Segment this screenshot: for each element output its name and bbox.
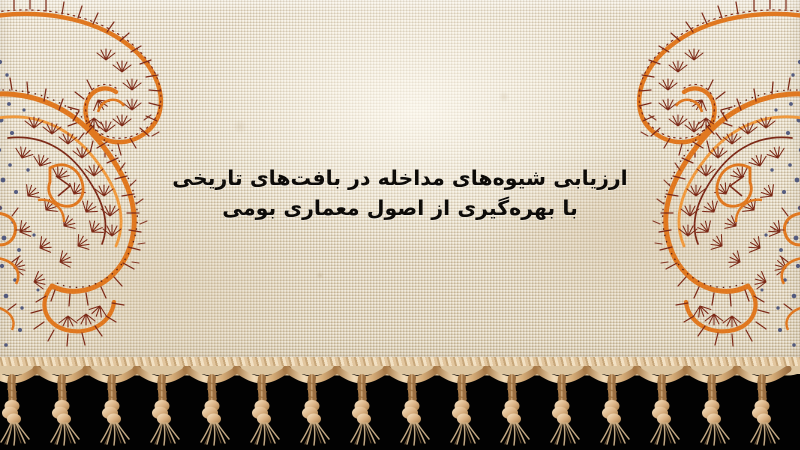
tassel-row bbox=[0, 369, 788, 445]
slide-canvas: ارزیابی شیوه‌های مداخله در بافت‌های تاری… bbox=[0, 0, 800, 450]
title-line-1: ارزیابی شیوه‌های مداخله در بافت‌های تاری… bbox=[0, 164, 800, 194]
title-line-2: با بهره‌گیری از اصول معماری بومی bbox=[0, 194, 800, 224]
slide-title: ارزیابی شیوه‌های مداخله در بافت‌های تاری… bbox=[0, 164, 800, 224]
tassel-fringe bbox=[0, 366, 800, 450]
